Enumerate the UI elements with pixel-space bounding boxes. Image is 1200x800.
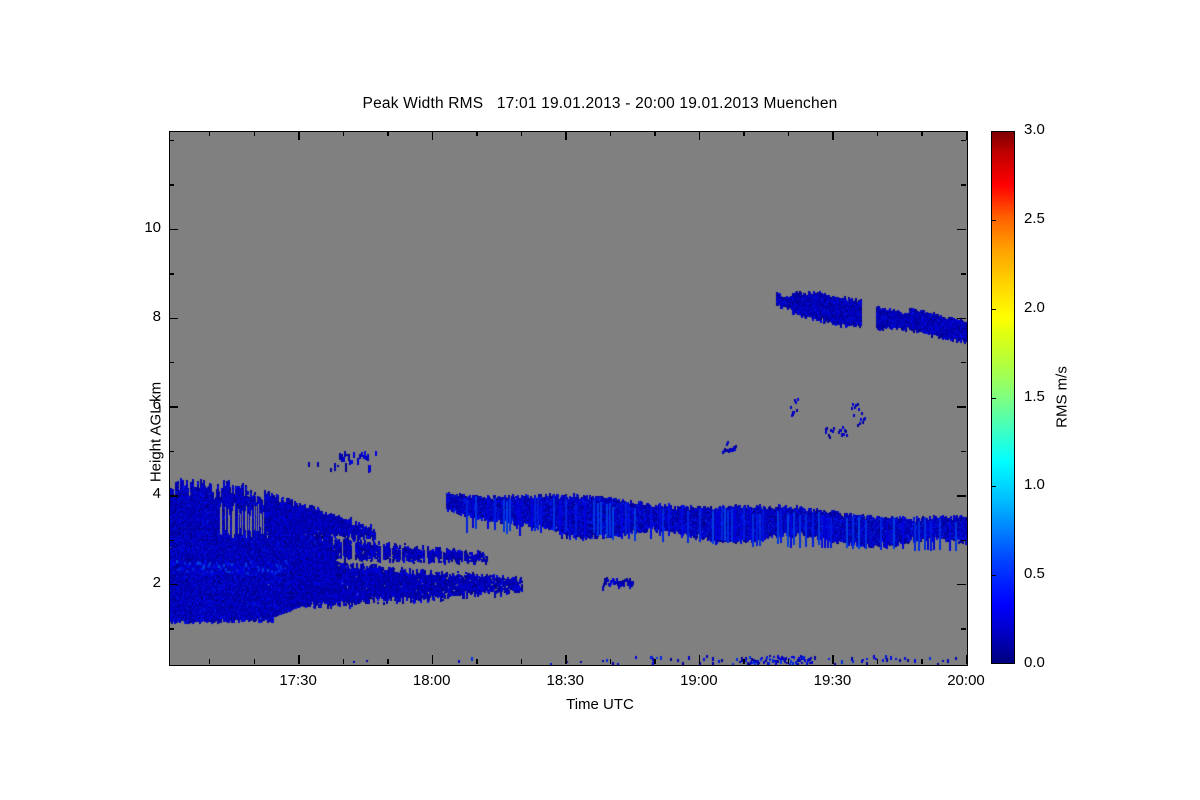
axis-tick — [877, 659, 878, 664]
axis-tick — [957, 584, 966, 585]
axis-tick — [921, 659, 922, 664]
axis-tick — [788, 659, 789, 664]
axis-tick — [521, 131, 522, 136]
axis-tick — [961, 362, 966, 363]
axis-tick — [654, 131, 655, 136]
axis-tick — [654, 659, 655, 664]
colorbar-tick-label-0_5: 0.5 — [1024, 565, 1045, 582]
axis-tick — [209, 659, 210, 664]
axis-tick — [957, 495, 966, 496]
x-tick-label-1900: 19:00 — [654, 672, 744, 689]
axis-tick — [169, 184, 174, 185]
y-tick-label-6: 6 — [133, 396, 161, 413]
axis-tick — [254, 659, 255, 664]
axis-tick — [832, 131, 833, 140]
axis-tick — [957, 406, 966, 407]
colorbar[interactable] — [991, 131, 1015, 664]
x-tick-label-1800: 18:00 — [387, 672, 477, 689]
y-tick-label-2: 2 — [133, 574, 161, 591]
axis-tick — [298, 131, 299, 140]
axis-tick — [169, 628, 174, 629]
axis-tick — [961, 540, 966, 541]
axis-tick — [476, 131, 477, 136]
axis-tick — [743, 659, 744, 664]
x-axis-label: Time UTC — [0, 696, 1200, 713]
axis-tick — [169, 406, 178, 407]
axis-tick — [387, 131, 388, 136]
axis-tick — [343, 659, 344, 664]
axis-tick — [169, 229, 178, 230]
axis-tick — [961, 273, 966, 274]
axis-tick — [966, 131, 967, 140]
axis-tick — [699, 655, 700, 664]
colorbar-tick-label-2_5: 2.5 — [1024, 210, 1045, 227]
axis-tick — [476, 659, 477, 664]
axis-tick — [961, 628, 966, 629]
colorbar-tick-label-0: 0.0 — [1024, 654, 1045, 671]
axis-tick — [961, 451, 966, 452]
axis-tick — [169, 451, 174, 452]
axis-tick — [169, 495, 178, 496]
axis-tick — [209, 131, 210, 136]
axis-tick — [387, 659, 388, 664]
axis-tick — [966, 655, 967, 664]
axis-tick — [877, 131, 878, 136]
axis-tick — [788, 131, 789, 136]
axis-tick — [169, 140, 174, 141]
axis-tick — [610, 131, 611, 136]
heatmap-canvas — [170, 132, 967, 665]
axis-tick — [169, 540, 174, 541]
colorbar-tick-label-2: 2.0 — [1024, 299, 1045, 316]
axis-tick — [169, 362, 174, 363]
x-tick-label-2000: 20:00 — [921, 672, 1011, 689]
colorbar-tick — [991, 309, 996, 310]
colorbar-tick-label-3: 3.0 — [1024, 121, 1045, 138]
y-tick-label-8: 8 — [133, 308, 161, 325]
figure-root: Peak Width RMS 17:01 19.01.2013 - 20:00 … — [0, 0, 1200, 800]
colorbar-tick — [991, 486, 996, 487]
axis-tick — [432, 655, 433, 664]
x-tick-label-1730: 17:30 — [253, 672, 343, 689]
axis-tick — [699, 131, 700, 140]
colorbar-tick — [991, 575, 996, 576]
y-tick-label-10: 10 — [133, 219, 161, 236]
axis-tick — [521, 659, 522, 664]
axis-tick — [957, 229, 966, 230]
axis-tick — [565, 131, 566, 140]
axis-tick — [957, 318, 966, 319]
colorbar-label: RMS m/s — [1054, 366, 1071, 428]
axis-tick — [169, 318, 178, 319]
colorbar-tick — [991, 663, 996, 664]
axis-tick — [961, 184, 966, 185]
axis-tick — [921, 131, 922, 136]
x-tick-label-1830: 18:30 — [520, 672, 610, 689]
y-tick-label-4: 4 — [133, 485, 161, 502]
axis-tick — [432, 131, 433, 140]
page-title: Peak Width RMS 17:01 19.01.2013 - 20:00 … — [0, 95, 1200, 113]
colorbar-tick — [991, 131, 996, 132]
colorbar-tick-label-1: 1.0 — [1024, 476, 1045, 493]
colorbar-tick-label-1_5: 1.5 — [1024, 388, 1045, 405]
axis-tick — [961, 140, 966, 141]
axis-tick — [832, 655, 833, 664]
axis-tick — [169, 273, 174, 274]
plot-area[interactable]: Height AGL km — [169, 131, 968, 666]
axis-tick — [743, 131, 744, 136]
axis-tick — [343, 131, 344, 136]
colorbar-tick — [991, 398, 996, 399]
axis-tick — [169, 584, 178, 585]
axis-tick — [254, 131, 255, 136]
x-tick-label-1930: 19:30 — [787, 672, 877, 689]
colorbar-tick — [991, 220, 996, 221]
axis-tick — [565, 655, 566, 664]
axis-tick — [610, 659, 611, 664]
axis-tick — [298, 655, 299, 664]
